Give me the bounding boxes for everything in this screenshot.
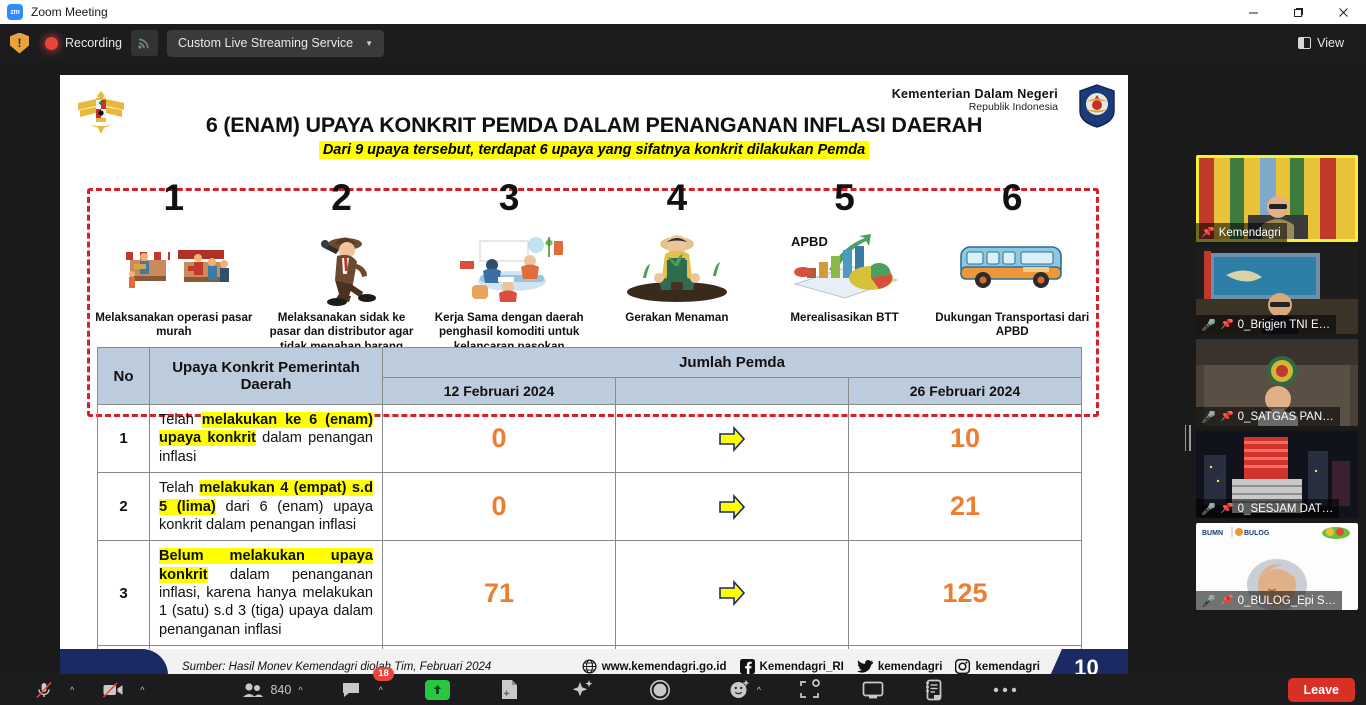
- chevron-up-icon: ^: [70, 685, 74, 695]
- step-label: Merealisasikan BTT: [765, 311, 925, 325]
- row-description: Telah melakukan ke 6 (enam) upaya konkri…: [150, 405, 383, 473]
- record-icon: [649, 679, 671, 701]
- chevron-up-icon: ^: [757, 685, 761, 695]
- apps-button[interactable]: [862, 674, 884, 705]
- ai-companion-icon: [571, 679, 595, 701]
- globe-icon: [582, 659, 597, 674]
- table-row: 3 Belum melakukan upaya konkrit dalam pe…: [98, 541, 1082, 646]
- step-number: 3: [425, 179, 593, 216]
- step-number: 1: [90, 179, 258, 216]
- apps-icon: [862, 680, 884, 700]
- share-screen-icon: [425, 680, 450, 700]
- ai-doc-button[interactable]: [500, 674, 519, 705]
- row-value-2: 10: [849, 405, 1082, 473]
- video-name-bar: 🎤 📌 0_SESJAM DAT…: [1196, 499, 1339, 518]
- participants-icon: [242, 682, 264, 698]
- svg-text:BUMN: BUMN: [1202, 530, 1223, 537]
- row-value-1: 0: [383, 405, 616, 473]
- slide-subtitle-wrap: Dari 9 upaya tersebut, terdapat 6 upaya …: [60, 141, 1128, 159]
- pin-icon: 📌: [1220, 411, 1234, 422]
- notes-button[interactable]: [924, 674, 944, 705]
- mic-muted-icon: 🎤: [1201, 411, 1216, 423]
- participant-name: Kemendagri: [1219, 227, 1281, 239]
- video-tile-kemendagri[interactable]: 📌 Kemendagri: [1196, 155, 1358, 242]
- participant-name: 0_BULOG_Epi S…: [1238, 595, 1336, 607]
- participants-button[interactable]: 840 ^: [242, 674, 302, 705]
- participant-name: 0_SESJAM DAT…: [1238, 503, 1334, 515]
- notes-icon: [924, 679, 944, 701]
- bus-transport-icon: [928, 227, 1096, 307]
- row-no: 1: [98, 405, 150, 473]
- video-button[interactable]: [102, 674, 124, 705]
- document-icon: [500, 679, 519, 700]
- mic-muted-icon: 🎤: [1201, 319, 1216, 331]
- video-name-bar: 🎤 📌 0_BULOG_Epi S…: [1196, 591, 1342, 610]
- security-shield-icon[interactable]: !: [10, 33, 29, 54]
- facebook-label: Kemendagri_RI: [760, 661, 844, 673]
- recording-bar: ! Recording Custom Live Streaming Servic…: [0, 24, 1366, 62]
- video-tile-satgas[interactable]: 🎤 📌 0_SATGAS PAN…: [1196, 339, 1358, 426]
- record-button[interactable]: [649, 674, 671, 705]
- facebook-icon: [740, 659, 755, 674]
- right-block-arrow-icon: [616, 405, 849, 473]
- website-label: www.kemendagri.go.id: [602, 661, 727, 673]
- recording-indicator[interactable]: Recording: [45, 36, 122, 50]
- video-name-bar: 🎤 📌 0_SATGAS PAN…: [1196, 407, 1340, 426]
- row-value-2: 21: [849, 473, 1082, 541]
- video-name-bar: 📌 Kemendagri: [1196, 223, 1287, 242]
- slide-subtitle: Dari 9 upaya tersebut, terdapat 6 upaya …: [319, 141, 869, 159]
- chat-unread-badge: 18: [373, 667, 394, 681]
- twitter-icon: [857, 660, 873, 674]
- live-stream-rss-icon[interactable]: [131, 30, 158, 56]
- participant-name: 0_SATGAS PAN…: [1238, 411, 1334, 423]
- row-value-2: 125: [849, 541, 1082, 646]
- th-group: Jumlah Pemda: [383, 348, 1082, 378]
- market-stall-icon: [90, 227, 258, 307]
- leave-button[interactable]: Leave: [1288, 678, 1355, 702]
- window-titlebar: zm Zoom Meeting: [0, 0, 1366, 24]
- right-block-arrow-icon: [616, 473, 849, 541]
- more-options-button[interactable]: [992, 674, 1018, 705]
- view-label: View: [1317, 36, 1344, 50]
- table-header-row: No Upaya Konkrit Pemerintah Daerah Jumla…: [98, 348, 1082, 378]
- step-number: 2: [258, 179, 426, 216]
- video-thumbnail-strip: 📌 Kemendagri 🎤 📌 0_Brigjen TNI E…: [1196, 155, 1358, 615]
- th-date-1: 12 Februari 2024: [383, 378, 616, 405]
- microphone-muted-icon: [34, 680, 54, 700]
- twitter-label: kemendagri: [878, 661, 943, 673]
- instagram-label: kemendagri: [975, 661, 1040, 673]
- row-no: 2: [98, 473, 150, 541]
- chat-button[interactable]: 18 ^: [341, 674, 383, 705]
- th-arrow-spacer: [616, 378, 849, 405]
- mic-muted-icon: 🎤: [1201, 503, 1216, 515]
- pin-icon: 📌: [1220, 319, 1234, 330]
- participants-count: 840: [270, 683, 291, 697]
- more-options-icon: [992, 686, 1018, 694]
- whiteboard-button[interactable]: [799, 674, 820, 705]
- table-row: 2 Telah melakukan 4 (empat) s.d 5 (lima)…: [98, 473, 1082, 541]
- video-tile-sesjam[interactable]: 🎤 📌 0_SESJAM DAT…: [1196, 431, 1358, 518]
- participant-name: 0_Brigjen TNI E…: [1238, 319, 1330, 331]
- step-number: 4: [593, 179, 761, 216]
- row-no: 3: [98, 541, 150, 646]
- th-effort: Upaya Konkrit Pemerintah Daerah: [150, 348, 383, 405]
- recording-dot-icon: [45, 37, 58, 50]
- step-label: Gerakan Menaman: [597, 311, 757, 325]
- view-button[interactable]: View: [1288, 30, 1354, 57]
- table-row: 1 Telah melakukan ke 6 (enam) upaya konk…: [98, 405, 1082, 473]
- row-description: Belum melakukan upaya konkrit dalam pena…: [150, 541, 383, 646]
- apbd-chart-icon: APBD: [761, 227, 929, 307]
- brand-line-2: Republik Indonesia: [892, 101, 1058, 113]
- mute-options-caret[interactable]: ^: [63, 674, 74, 705]
- footer-facebook: Kemendagri_RI: [740, 659, 844, 674]
- ai-companion-button[interactable]: [571, 674, 595, 705]
- recording-label: Recording: [65, 36, 122, 50]
- chevron-up-icon: ^: [140, 685, 144, 695]
- step-label: Melaksanakan operasi pasar murah: [94, 311, 254, 340]
- meeting-table-icon: [425, 227, 593, 307]
- meeting-toolbar: ^ ^ 840 ^ 18 ^: [0, 674, 1366, 705]
- minimize-button[interactable]: [1231, 0, 1276, 24]
- footer-socials: www.kemendagri.go.id Kemendagri_RI kemen…: [582, 659, 1040, 674]
- right-block-arrow-icon: [616, 541, 849, 646]
- th-no: No: [98, 348, 150, 405]
- slide-title: 6 (ENAM) UPAYA KONKRIT PEMDA DALAM PENAN…: [60, 113, 1128, 138]
- zoom-logo-icon: zm: [7, 4, 23, 20]
- detective-icon: [258, 227, 426, 307]
- pin-icon: 📌: [1220, 503, 1234, 514]
- row-description: Telah melakukan 4 (empat) s.d 5 (lima) d…: [150, 473, 383, 541]
- svg-text:APBD: APBD: [791, 234, 828, 249]
- brand-line-1: Kementerian Dalam Negeri: [892, 87, 1058, 101]
- efforts-table: No Upaya Konkrit Pemerintah Daerah Jumla…: [97, 347, 1082, 687]
- chevron-up-icon: ^: [298, 685, 302, 695]
- maximize-button[interactable]: [1276, 0, 1321, 24]
- window-controls: [1231, 0, 1366, 24]
- video-name-bar: 🎤 📌 0_Brigjen TNI E…: [1196, 315, 1336, 334]
- chevron-down-icon: ▼: [365, 39, 373, 48]
- meeting-stage: Kementerian Dalam Negeri Republik Indone…: [0, 62, 1366, 674]
- video-options-caret[interactable]: ^: [133, 674, 144, 705]
- instagram-icon: [955, 659, 970, 674]
- video-tile-bulog[interactable]: BUMN BULOG 🎤 📌 0_BULOG_Epi S…: [1196, 523, 1358, 610]
- kemendagri-brand: Kementerian Dalam Negeri Republik Indone…: [892, 87, 1058, 113]
- camera-muted-icon: [102, 681, 124, 699]
- footer-instagram: kemendagri: [955, 659, 1040, 674]
- chevron-up-icon: ^: [379, 685, 383, 695]
- row-value-1: 71: [383, 541, 616, 646]
- footer-twitter: kemendagri: [857, 660, 943, 674]
- layout-view-icon: [1298, 37, 1311, 49]
- step-number: 5: [761, 179, 929, 216]
- mic-muted-icon: 🎤: [1201, 595, 1216, 607]
- shared-slide: Kementerian Dalam Negeri Republik Indone…: [60, 75, 1128, 687]
- window-title: Zoom Meeting: [31, 5, 108, 19]
- planting-farmer-icon: [593, 227, 761, 307]
- reactions-icon: [729, 679, 750, 700]
- svg-text:BULOG: BULOG: [1244, 530, 1270, 537]
- close-button[interactable]: [1321, 0, 1366, 24]
- pin-icon: 📌: [1201, 227, 1215, 238]
- step-label: Dukungan Transportasi dari APBD: [932, 311, 1092, 340]
- row-value-1: 0: [383, 473, 616, 541]
- mute-button[interactable]: [34, 674, 54, 705]
- stream-service-label: Custom Live Streaming Service: [178, 36, 353, 50]
- panel-drag-handle[interactable]: [1183, 424, 1192, 452]
- pin-icon: 📌: [1220, 595, 1234, 606]
- footer-source: Sumber: Hasil Monev Kemendagri diolah Ti…: [182, 661, 491, 673]
- th-date-2: 26 Februari 2024: [849, 378, 1082, 405]
- chat-icon: [341, 681, 361, 698]
- video-tile-brigjen[interactable]: 🎤 📌 0_Brigjen TNI E…: [1196, 247, 1358, 334]
- step-number: 6: [928, 179, 1096, 216]
- footer-website: www.kemendagri.go.id: [582, 659, 727, 674]
- reactions-button[interactable]: ^: [729, 674, 761, 705]
- live-streaming-service-dropdown[interactable]: Custom Live Streaming Service ▼: [167, 30, 384, 57]
- share-screen-button[interactable]: [425, 674, 450, 705]
- whiteboard-icon: [799, 679, 820, 700]
